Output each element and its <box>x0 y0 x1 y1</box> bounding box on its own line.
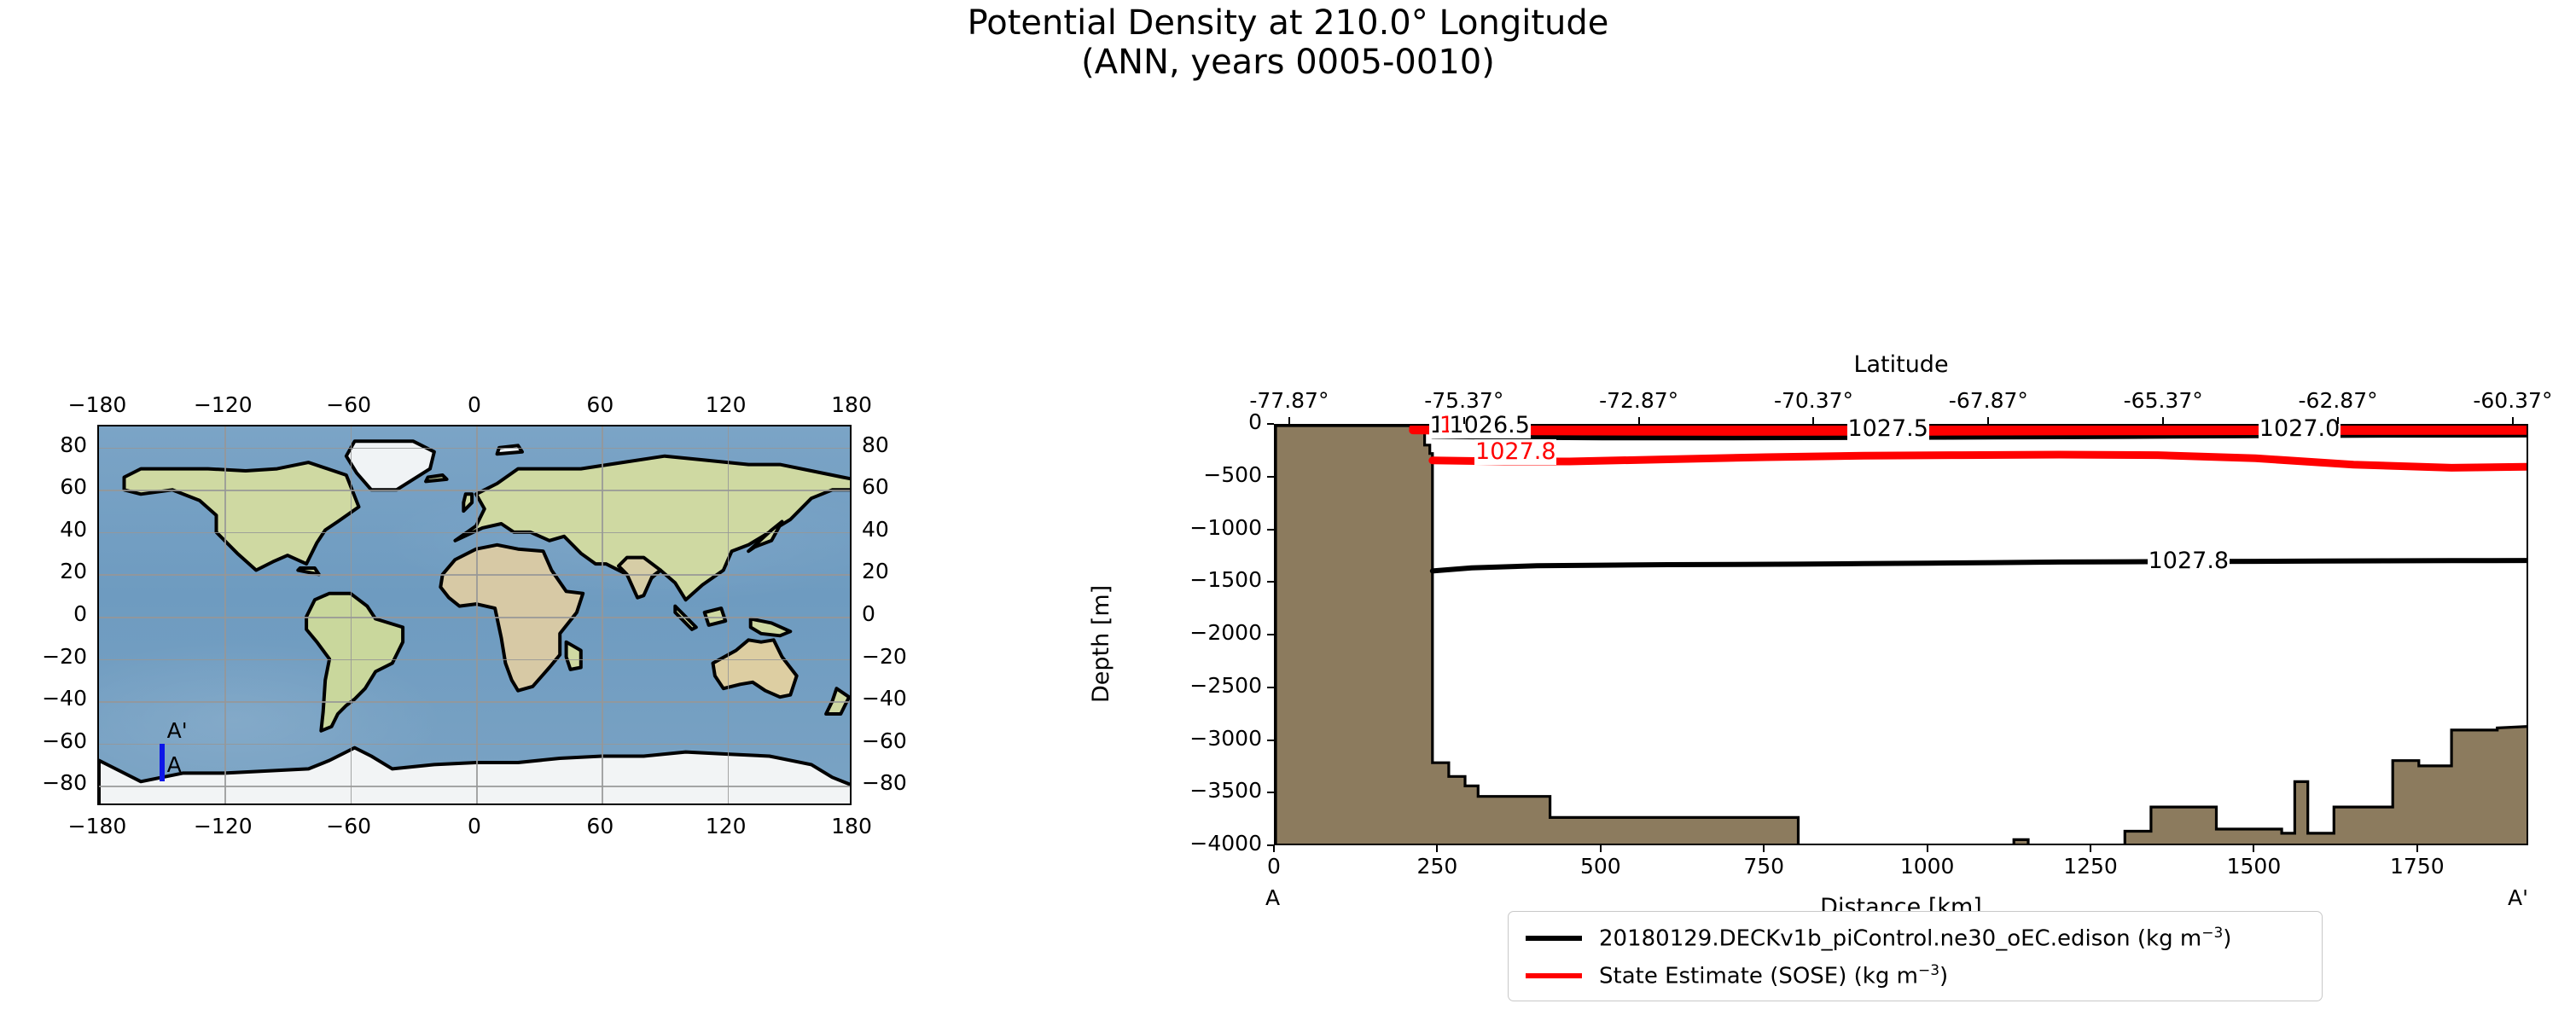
axis-tick <box>1812 417 1814 424</box>
landmass-iceland <box>426 475 446 481</box>
contour-label: 1027.8 <box>2148 548 2230 574</box>
legend-item[interactable]: State Estimate (SOSE) (kg m−3) <box>1526 963 1948 989</box>
axis-tick-label: −500 <box>1120 462 1262 487</box>
axis-tick <box>1267 634 1274 635</box>
map-tick-label: 60 <box>19 474 87 499</box>
axis-tick <box>1436 845 1438 852</box>
title-line-1: Potential Density at 210.0° Longitude <box>968 3 1609 43</box>
axis-tick <box>1273 845 1275 852</box>
graticule-parallel <box>99 490 850 491</box>
axis-tick <box>1267 740 1274 741</box>
map-tick-label: −120 <box>180 814 265 838</box>
axis-tick-label: −2000 <box>1120 620 1262 645</box>
legend-box[interactable]: 20180129.DECKv1b_piControl.ne30_oEC.edis… <box>1508 911 2323 1001</box>
axis-tick-label: −2500 <box>1120 673 1262 698</box>
figure-title: Potential Density at 210.0° Longitude (A… <box>0 3 2576 82</box>
landmass-north-america <box>125 462 359 570</box>
bathymetry-profile <box>1276 426 2528 845</box>
axis-tick-label: 0 <box>1206 854 1342 879</box>
transect-label-start: A <box>167 752 182 777</box>
axis-tick-label: -60.37° <box>2445 388 2576 413</box>
map-tick-label: 80 <box>862 432 930 457</box>
axis-tick-label: 1500 <box>2185 854 2322 879</box>
axis-tick-label: 500 <box>1532 854 1669 879</box>
axis-tick-label: 1000 <box>1859 854 1996 879</box>
axis-tick-label: -62.87° <box>2270 388 2406 413</box>
map-tick-label: 40 <box>19 517 87 542</box>
map-tick-label: 60 <box>862 474 930 499</box>
landmass-new-guinea <box>751 619 791 636</box>
graticule-parallel <box>99 659 850 661</box>
legend-swatch-obs <box>1526 973 1582 978</box>
axis-tick-label: -67.87° <box>1920 388 2056 413</box>
graticule-parallel <box>99 617 850 618</box>
map-tick-label: −60 <box>306 392 392 417</box>
axis-tick-label: -70.37° <box>1745 388 1881 413</box>
continents <box>99 426 852 805</box>
map-tick-label: 20 <box>19 559 87 583</box>
graticule-parallel <box>99 744 850 745</box>
map-tick-label: 180 <box>809 814 894 838</box>
world-map-frame[interactable]: A' A <box>97 425 852 805</box>
graticule-parallel <box>99 532 850 534</box>
axis-tick <box>1927 845 1928 852</box>
axis-tick-label: -75.37° <box>1396 388 1532 413</box>
contour-label: 1027.8 <box>1474 439 1556 465</box>
map-tick-label: 180 <box>809 392 894 417</box>
axis-tick <box>2416 845 2418 852</box>
axis-tick <box>1267 581 1274 583</box>
map-tick-label: 0 <box>862 601 930 626</box>
transect-line <box>160 744 165 782</box>
landmass-australia <box>713 640 797 697</box>
axis-tick <box>2337 417 2339 424</box>
axis-tick-label: 1250 <box>2022 854 2159 879</box>
map-tick-label: 120 <box>683 814 769 838</box>
cross-section-panel <box>1274 424 2528 845</box>
axis-tick <box>2253 845 2254 852</box>
axis-tick <box>1763 845 1765 852</box>
axis-tick <box>1638 417 1640 424</box>
axis-tick <box>2162 417 2164 424</box>
contour-label: 1027.5 <box>1847 416 1929 442</box>
axis-tick <box>1463 417 1465 424</box>
axis-tick-label: −3500 <box>1120 778 1262 803</box>
map-tick-label: −20 <box>19 644 87 669</box>
contour-line-1027 <box>1413 428 2528 429</box>
axis-tick-label: -72.87° <box>1571 388 1707 413</box>
depth-axis-label: Depth [m] <box>1088 585 1114 703</box>
legend-label-model: 20180129.DECKv1b_piControl.ne30_oEC.edis… <box>1599 925 2231 952</box>
cross-section-graphics <box>1276 426 2528 845</box>
map-tick-label: 60 <box>557 814 643 838</box>
landmass-great-britain <box>463 494 472 511</box>
graticule-parallel <box>99 786 850 787</box>
map-tick-label: −180 <box>55 392 140 417</box>
contour-label: 1026.5 <box>1449 413 1531 438</box>
world-map-inset-panel: A' A −180−120−60060120180 −180−120−60060… <box>19 375 932 853</box>
axis-tick-label: −4000 <box>1120 831 1262 856</box>
graticule-meridian <box>728 426 730 803</box>
latitude-axis-label: Latitude <box>1274 351 2528 378</box>
legend-swatch-model <box>1526 936 1582 941</box>
map-tick-label: 40 <box>862 517 930 542</box>
transect-label-end: A' <box>167 718 188 743</box>
map-tick-label: −40 <box>862 686 930 711</box>
landmass-cuba <box>298 568 319 574</box>
graticule-parallel <box>99 574 850 576</box>
map-tick-label: 0 <box>432 392 517 417</box>
axis-tick <box>1267 792 1274 793</box>
map-tick-label: −60 <box>19 728 87 753</box>
legend-label-obs: State Estimate (SOSE) (kg m−3) <box>1599 962 1948 989</box>
graticule-parallel <box>99 701 850 703</box>
map-tick-label: 20 <box>862 559 930 583</box>
landmass-madagascar <box>567 642 581 670</box>
axis-tick <box>2512 417 2514 424</box>
axis-tick-label: 1750 <box>2349 854 2486 879</box>
legend-item[interactable]: 20180129.DECKv1b_piControl.ne30_oEC.edis… <box>1526 925 2231 951</box>
map-tick-label: −80 <box>19 770 87 795</box>
map-tick-label: −40 <box>19 686 87 711</box>
axis-tick-label: 250 <box>1369 854 1505 879</box>
axis-tick <box>2090 845 2091 852</box>
axis-tick-label: 0 <box>1120 409 1262 434</box>
map-tick-label: −80 <box>862 770 930 795</box>
map-tick-label: 60 <box>557 392 643 417</box>
axis-tick <box>1267 529 1274 531</box>
map-tick-label: 120 <box>683 392 769 417</box>
axis-tick <box>1267 844 1274 846</box>
title-line-2: (ANN, years 0005-0010) <box>0 43 2576 82</box>
map-tick-label: 80 <box>19 432 87 457</box>
map-tick-label: 0 <box>432 814 517 838</box>
section-end-label: A' <box>2508 885 2528 910</box>
axis-tick-label: 750 <box>1695 854 1832 879</box>
graticule-meridian <box>224 426 226 803</box>
axis-tick <box>1600 845 1602 852</box>
axis-tick-label: −1500 <box>1120 567 1262 592</box>
graticule-meridian <box>476 426 478 803</box>
cross-section-plot-area[interactable] <box>1274 424 2528 845</box>
graticule-meridian <box>351 426 352 803</box>
axis-tick-label: -65.37° <box>2095 388 2231 413</box>
axis-tick-label: −3000 <box>1120 726 1262 751</box>
axis-tick <box>1267 423 1274 425</box>
contour-line-1027.8 <box>1433 560 2528 571</box>
axis-tick <box>1288 417 1290 424</box>
axis-tick <box>1267 687 1274 688</box>
map-tick-label: −120 <box>180 392 265 417</box>
graticule-parallel <box>99 448 850 450</box>
axis-tick-label: −1000 <box>1120 515 1262 540</box>
axis-tick <box>1267 476 1274 478</box>
map-tick-label: −180 <box>55 814 140 838</box>
landmass-antarctica <box>99 748 852 805</box>
landmass-south-america <box>306 594 403 731</box>
map-tick-label: −60 <box>306 814 392 838</box>
contour-line-1027.8 <box>1433 455 2528 467</box>
axis-tick <box>1987 417 1989 424</box>
graticule-meridian <box>602 426 603 803</box>
contour-label: 1027.0 <box>2259 416 2340 442</box>
map-tick-label: −20 <box>862 644 930 669</box>
section-start-label: A <box>1265 885 1280 910</box>
map-tick-label: 0 <box>19 601 87 626</box>
map-tick-label: −60 <box>862 728 930 753</box>
